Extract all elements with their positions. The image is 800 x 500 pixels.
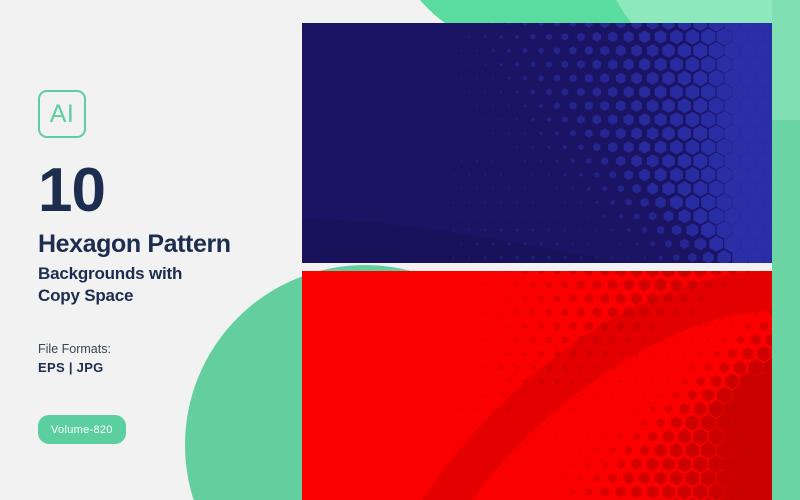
navy-hexagon-pattern <box>302 23 772 263</box>
page-subtitle-line-1: Backgrounds with <box>38 263 182 285</box>
red-hexagon-pattern <box>302 271 772 500</box>
item-count: 10 <box>38 160 105 222</box>
info-panel: AI 10 Hexagon Pattern Backgrounds with C… <box>38 0 288 500</box>
volume-badge: Volume-820 <box>38 415 126 444</box>
page-title: Hexagon Pattern <box>38 232 231 257</box>
file-formats-value: EPS | JPG <box>38 361 104 374</box>
file-formats-label: File Formats: <box>38 343 111 356</box>
preview-canvas: AI 10 Hexagon Pattern Backgrounds with C… <box>0 0 800 500</box>
page-subtitle-line-2: Copy Space <box>38 285 182 307</box>
volume-badge-label: Volume-820 <box>51 424 113 436</box>
adobe-illustrator-badge-label: AI <box>50 102 75 127</box>
red-hexagon-preview <box>302 271 772 500</box>
navy-hexagon-preview <box>302 23 772 263</box>
page-subtitle: Backgrounds with Copy Space <box>38 263 182 307</box>
mint-edge-right-light <box>772 0 800 120</box>
adobe-illustrator-badge: AI <box>38 90 86 138</box>
